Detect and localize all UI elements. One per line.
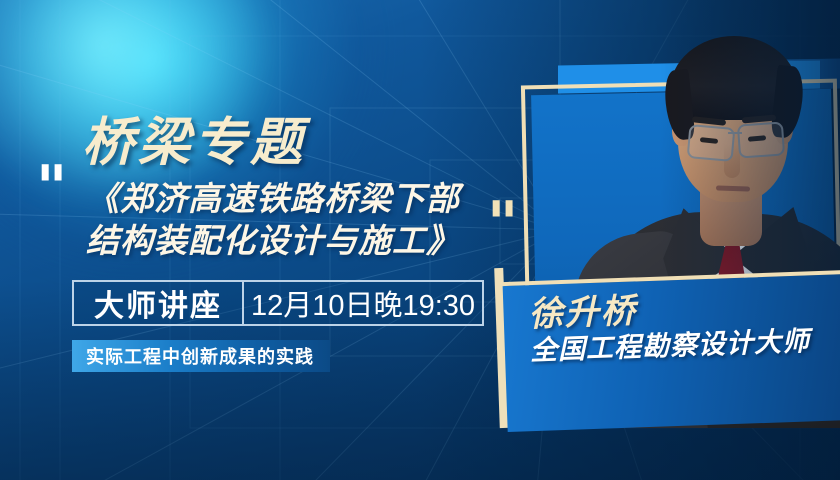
poster-subtitle-line1: 《郑济高速铁路桥梁下部 — [86, 180, 460, 217]
poster-tag: 实际工程中创新成果的实践 — [72, 340, 330, 372]
poster-headline: 桥梁专题 — [82, 100, 306, 175]
quote-open-icon: " — [36, 170, 65, 206]
poster-canvas: 徐升桥 全国工程勘察设计大师 桥梁专题 " " 《郑济高速铁路桥梁下部 结构装配… — [0, 0, 840, 480]
poster-subtitle-line2: 结构装配化设计与施工》 — [86, 220, 506, 262]
lecture-info-bar: 大师讲座 12月10日晚19:30 — [72, 280, 484, 326]
speaker-nameplate-text: 徐升桥 全国工程勘察设计大师 — [528, 286, 840, 407]
poster-subtitle: 《郑济高速铁路桥梁下部 结构装配化设计与施工》 — [86, 178, 506, 262]
lecture-datetime: 12月10日晚19:30 — [244, 282, 482, 324]
lecture-type-label: 大师讲座 — [74, 282, 244, 324]
